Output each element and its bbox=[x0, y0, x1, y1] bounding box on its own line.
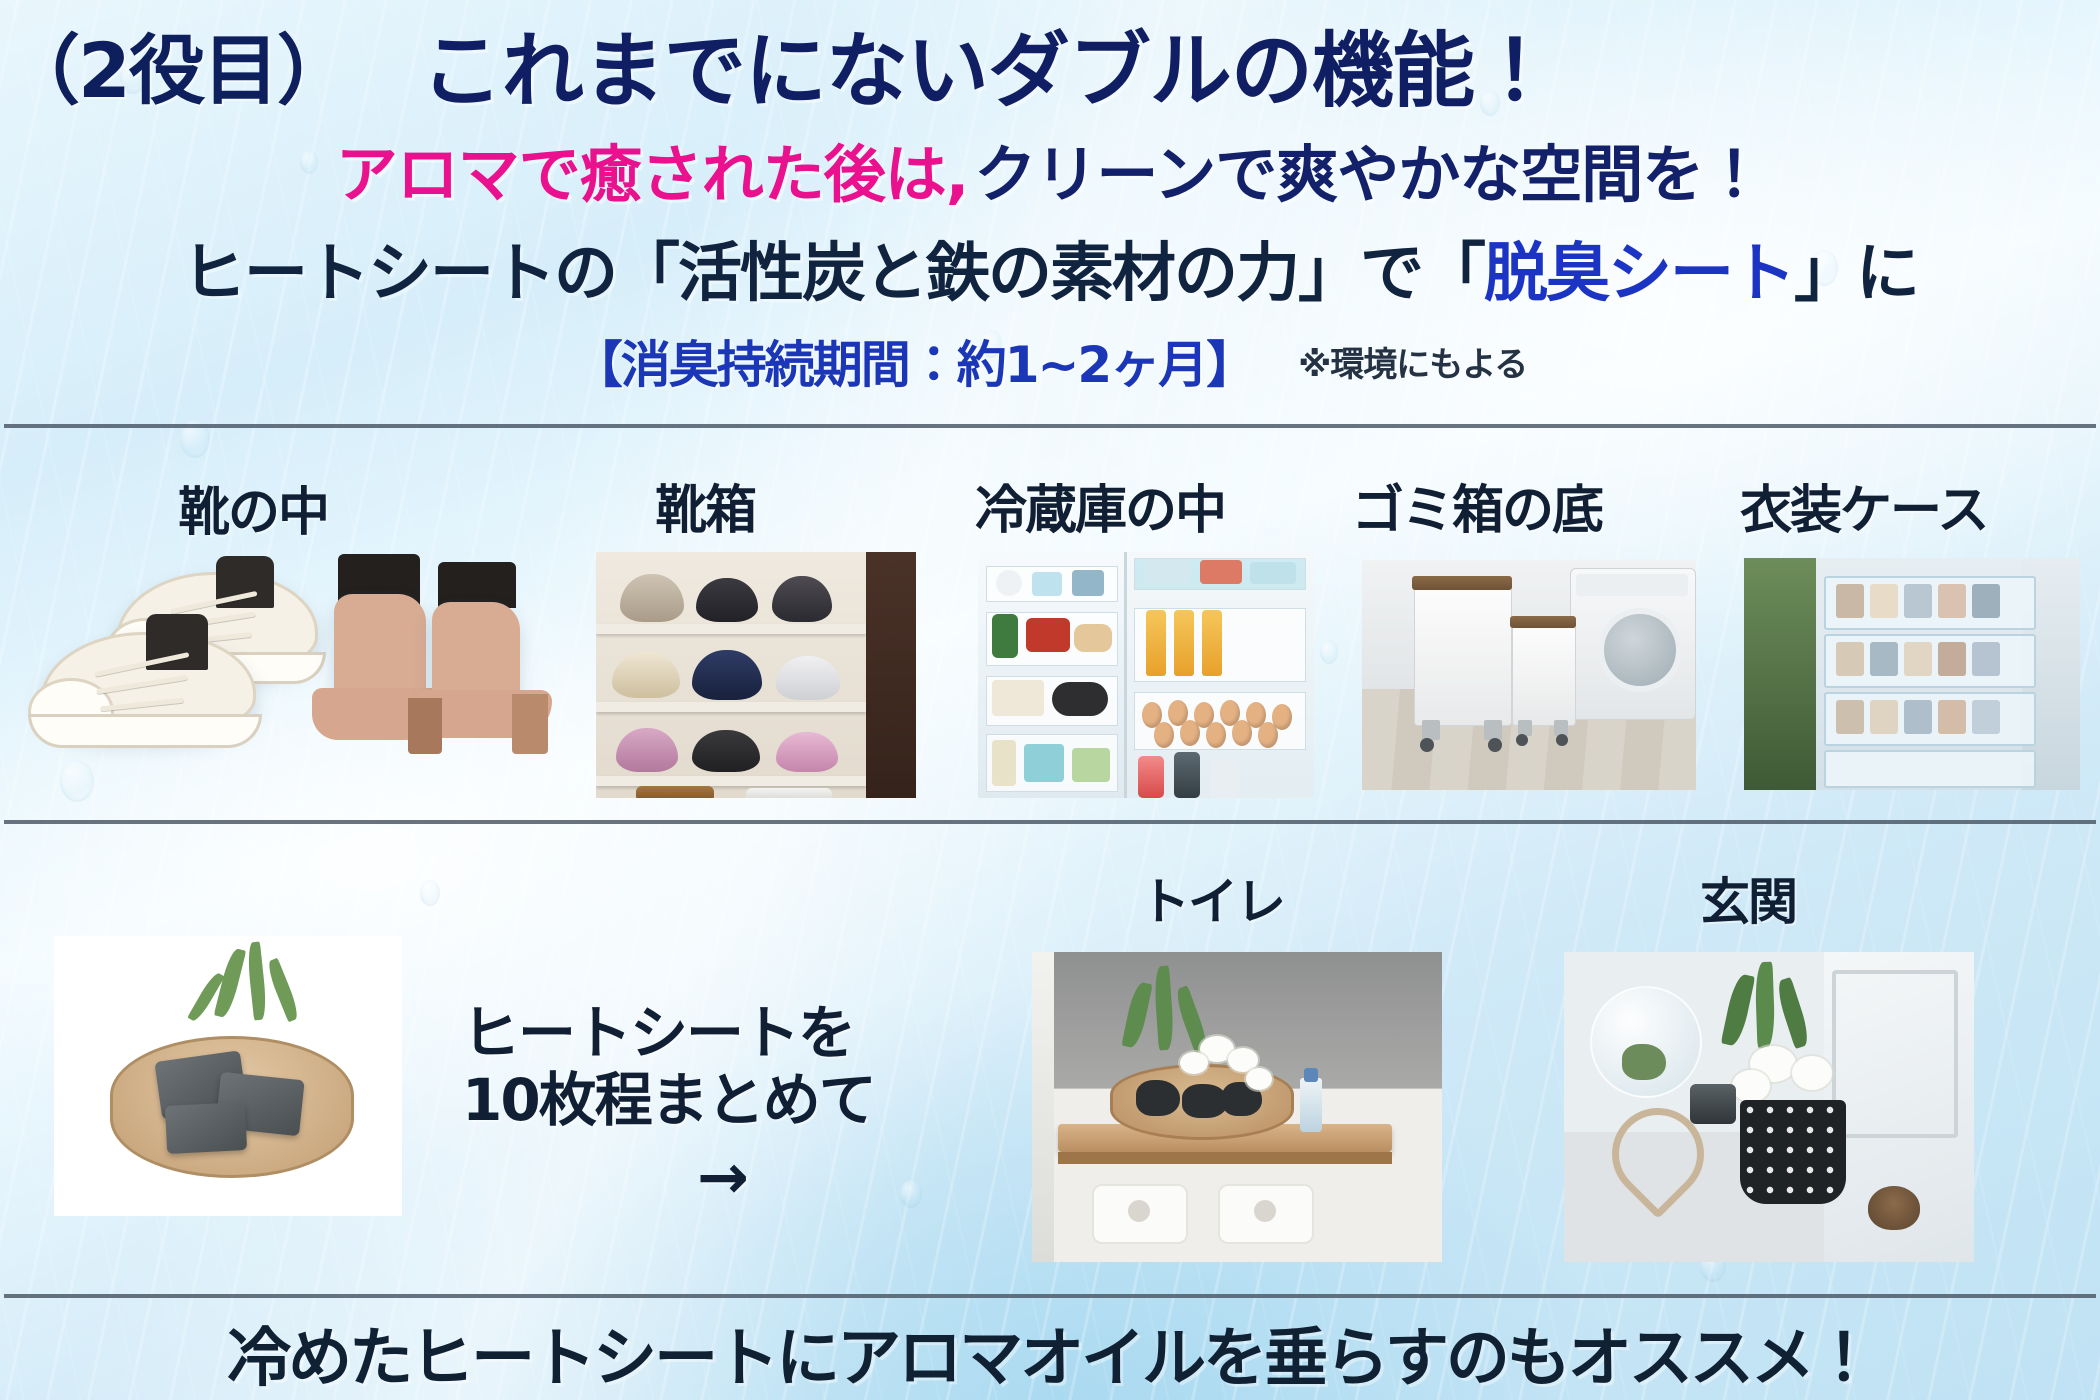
label-toilet: トイレ bbox=[1140, 862, 1284, 934]
label-trash-bin-bottom: ゴミ箱の底 bbox=[1352, 468, 1602, 543]
duration-row: 【消臭持続期間：約1~2ヶ月】 ※環境にもよる bbox=[0, 330, 2100, 392]
description-part1: ヒートシートの「活性炭と鉄の素材の力」で「 bbox=[182, 222, 1484, 314]
subheadline-row: アロマで癒された後は, クリーンで爽やかな空間を！ bbox=[0, 126, 2100, 212]
subheadline-aroma: アロマで癒された後は, bbox=[336, 124, 969, 214]
label-refrigerator-interior: 冷蔵庫の中 bbox=[975, 468, 1225, 543]
divider-bottom bbox=[4, 1294, 2096, 1298]
poster-root: （2役目） これまでにないダブルの機能！ アロマで癒された後は, クリーンで爽や… bbox=[0, 0, 2100, 1400]
label-shoes-interior: 靴の中 bbox=[178, 470, 328, 545]
photo-clothing-case bbox=[1744, 558, 2080, 790]
description-part2: 」に bbox=[1794, 222, 1918, 314]
description-highlight: 脱臭シート bbox=[1484, 222, 1794, 314]
photo-shoes-with-sheets bbox=[20, 548, 580, 798]
instruction-line-1: ヒートシートを bbox=[462, 1000, 982, 1067]
photo-toilet bbox=[1032, 952, 1442, 1262]
divider-middle bbox=[4, 820, 2096, 824]
role-tag: （2役目） bbox=[4, 9, 351, 119]
environment-disclaimer: ※環境にもよる bbox=[1298, 337, 1527, 386]
arrow-icon: → bbox=[462, 1141, 982, 1213]
subheadline-clean: クリーンで爽やかな空間を！ bbox=[974, 124, 1764, 214]
label-entrance: 玄関 bbox=[1700, 862, 1796, 934]
headline-row: （2役目） これまでにないダブルの機能！ bbox=[0, 6, 2100, 121]
description-row: ヒートシートの「活性炭と鉄の素材の力」で「脱臭シート」に bbox=[0, 222, 2100, 314]
deodorant-duration: 【消臭持続期間：約1~2ヶ月】 bbox=[573, 325, 1254, 397]
divider-top bbox=[4, 424, 2096, 428]
footer-banner: 冷めたヒートシートにアロマオイルを垂らすのもオススメ！ bbox=[0, 1310, 2100, 1396]
photo-entrance bbox=[1564, 952, 1974, 1262]
instruction-text-block: ヒートシートを 10枚程まとめて → bbox=[462, 1000, 982, 1212]
photo-refrigerator bbox=[978, 552, 1314, 798]
photo-shoe-cabinet bbox=[596, 552, 916, 798]
label-shoe-cabinet: 靴箱 bbox=[655, 468, 755, 543]
photo-trash-bin bbox=[1362, 560, 1696, 790]
photo-heat-sheet-bundle bbox=[54, 936, 402, 1216]
instruction-line-2: 10枚程まとめて bbox=[462, 1067, 982, 1134]
label-clothing-storage-case: 衣装ケース bbox=[1740, 468, 1987, 543]
main-headline: これまでにないダブルの機能！ bbox=[421, 4, 1555, 123]
